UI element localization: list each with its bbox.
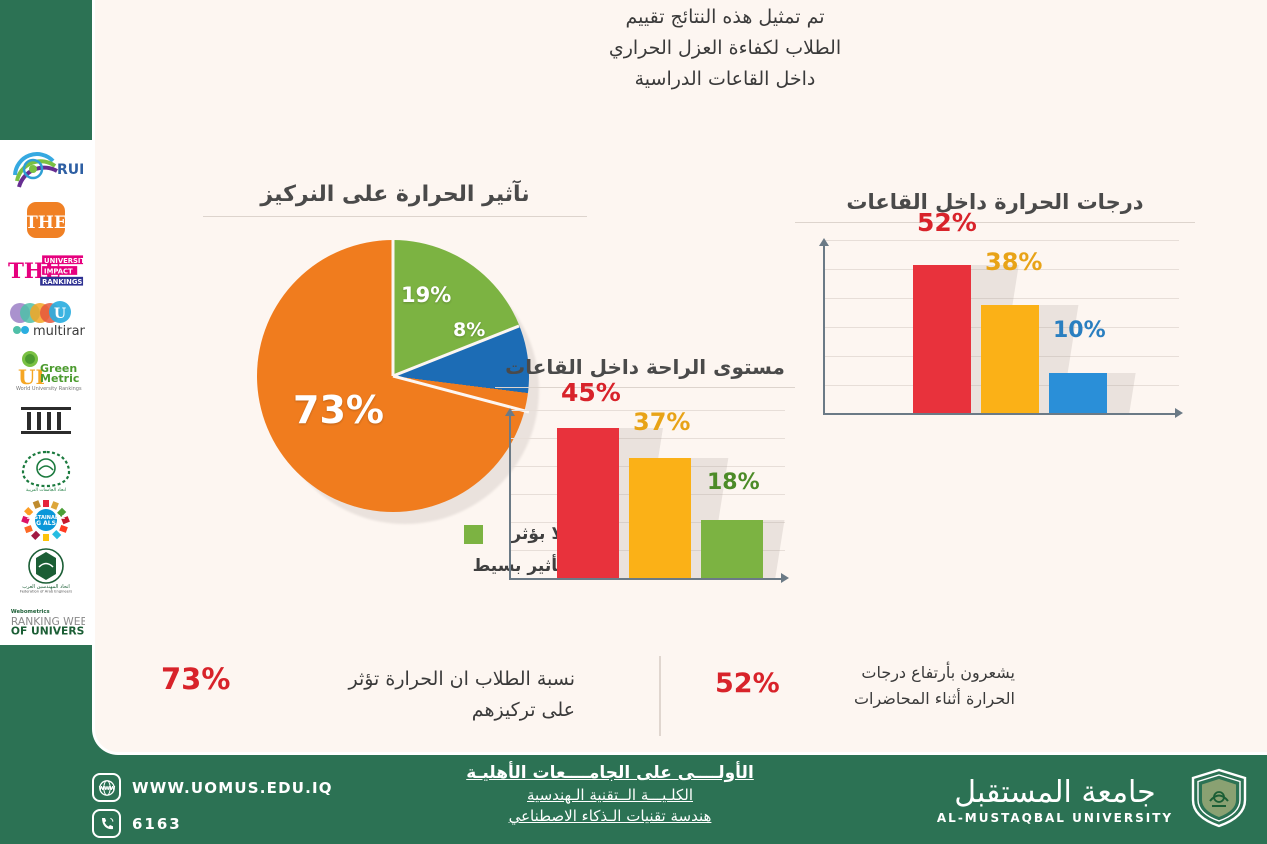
svg-text:UNIVERSITY: UNIVERSITY xyxy=(44,257,85,265)
svg-text:WWW: WWW xyxy=(98,786,115,792)
phone-text: 6163 xyxy=(132,815,182,833)
svg-text:G ALS: G ALS xyxy=(36,520,56,527)
footer-line-3: هندسة تقنيات الـذكاء الاصطناعي xyxy=(380,807,840,825)
pie-slice-label-green: 19% xyxy=(401,283,451,307)
comfort-bar-value-3: 18% xyxy=(707,470,760,495)
sdg-wheel-logo: SUSTAINABLE G ALS xyxy=(7,496,85,544)
brand-name-english: AL-MUSTAQBAL UNIVERSITY xyxy=(930,811,1180,825)
temperature-bar-1 xyxy=(913,265,971,415)
temperature-bar-value-1: 52% xyxy=(917,208,977,237)
legend-swatch-green xyxy=(464,525,483,544)
stat-value-52: 52% xyxy=(715,668,780,699)
ui-greenmetric-logo: UI Green Metric World University Ranking… xyxy=(7,346,85,394)
stat-text-52-line-1: يشعرون بأرتفاع درجات xyxy=(795,660,1015,686)
university-brand: جامعة المستقبل AL-MUSTAQBAL UNIVERSITY xyxy=(930,767,1250,833)
temperature-bar-chart-panel: درجات الحرارة داخل القاعات 52% 38% 10% xyxy=(795,190,1195,450)
temperature-bar-2 xyxy=(981,305,1039,415)
federation-arab-engineers-logo: اتحاد المهندسين العرب Federation of Arab… xyxy=(7,546,85,594)
svg-text:اتحاد الجامعات العربية: اتحاد الجامعات العربية xyxy=(26,488,66,492)
svg-text:RANKINGS: RANKINGS xyxy=(42,278,82,286)
accreditation-logo-rail: RUR THE THE UNIVERSITY IMPACT RANKINGS xyxy=(0,140,92,645)
svg-text:RUR: RUR xyxy=(57,162,83,178)
website-text: WWW.UOMUS.EDU.IQ xyxy=(132,779,333,797)
footer-center-text: الأولــــى على الجامــــعات الأهليـة الك… xyxy=(380,763,840,825)
svg-text:OF UNIVERSITIES: OF UNIVERSITIES xyxy=(11,625,85,638)
svg-text:THE: THE xyxy=(25,213,67,233)
svg-text:Metric: Metric xyxy=(40,372,79,385)
temperature-bar-value-2: 38% xyxy=(985,248,1042,276)
slide-header-text: تم تمثيل هذه النتائج تقييم الطلاب لكفاءة… xyxy=(525,2,925,95)
temperature-x-axis-arrow xyxy=(1175,408,1183,418)
stats-divider xyxy=(659,656,661,736)
brand-name-arabic: جامعة المستقبل xyxy=(930,776,1180,810)
rur-logo: RUR xyxy=(7,146,85,194)
temperature-x-axis xyxy=(823,413,1175,415)
comfort-plot-area: 45% 37% 18% xyxy=(509,410,785,580)
temperature-bar-value-3: 10% xyxy=(1053,318,1106,343)
website-row[interactable]: WWW WWW.UOMUS.EDU.IQ xyxy=(92,773,333,802)
globe-www-icon: WWW xyxy=(92,773,121,802)
temperature-plot-area: 52% 38% 10% xyxy=(823,240,1179,415)
temperature-y-axis-arrow xyxy=(819,238,829,246)
comfort-chart-title: مستوى الراحة داخل القاعات xyxy=(495,355,795,379)
svg-text:U: U xyxy=(54,306,66,322)
footer-line-1: الأولــــى على الجامــــعات الأهليـة xyxy=(380,763,840,783)
temperature-title-divider xyxy=(795,222,1195,223)
svg-text:World University Rankings: World University Rankings xyxy=(16,386,82,392)
comfort-x-axis xyxy=(509,578,781,580)
webometrics-logo: Webometrics RANKING WEB OF UNIVERSITIES xyxy=(7,596,85,644)
pie-slice-label-orange: 73% xyxy=(293,388,384,432)
header-line-2: الطلاب لكفاءة العزل الحراري xyxy=(525,33,925,64)
footer-line-2: الكلـيـــة الــتقنية الـهندسية xyxy=(380,786,840,804)
pie-slice-label-blue: 8% xyxy=(453,319,485,341)
pie-slice-separators xyxy=(257,240,529,512)
arab-universities-logo: اتحاد الجامعات العربية xyxy=(7,446,85,494)
pie-title-divider xyxy=(203,216,587,217)
the-impact-rankings-logo: THE UNIVERSITY IMPACT RANKINGS xyxy=(7,246,85,294)
temperature-chart-title: درجات الحرارة داخل القاعات xyxy=(795,190,1195,214)
u-multirank-logo: U multirank xyxy=(7,296,85,344)
header-line-1: تم تمثيل هذه النتائج تقييم xyxy=(525,2,925,33)
the-logo: THE xyxy=(7,196,85,244)
svg-text:multirank: multirank xyxy=(33,324,85,339)
stat-text-52-line-2: الحرارة أثناء المحاضرات xyxy=(795,686,1015,712)
brand-text-block: جامعة المستقبل AL-MUSTAQBAL UNIVERSITY xyxy=(930,776,1180,825)
columns-logo xyxy=(7,396,85,444)
page-footer: WWW WWW.UOMUS.EDU.IQ 6163 الأولــــى على… xyxy=(0,755,1267,844)
left-green-rail: RUR THE THE UNIVERSITY IMPACT RANKINGS xyxy=(0,0,92,844)
svg-text:Federation of Arab Engineers: Federation of Arab Engineers xyxy=(20,590,72,594)
phone-icon xyxy=(92,809,121,838)
comfort-title-divider xyxy=(495,387,795,388)
header-line-3: داخل القاعات الدراسية xyxy=(525,64,925,95)
slide-content-area: تم تمثيل هذه النتائج تقييم الطلاب لكفاءة… xyxy=(92,0,1267,755)
phone-row[interactable]: 6163 xyxy=(92,809,182,838)
stat-text-73: نسبة الطلاب ان الحرارة تؤثر على تركيزهم xyxy=(245,664,575,726)
svg-text:IMPACT: IMPACT xyxy=(44,268,73,276)
comfort-x-axis-arrow xyxy=(781,573,789,583)
stat-text-73-line-1: نسبة الطلاب ان الحرارة تؤثر xyxy=(245,664,575,695)
temperature-y-axis xyxy=(823,246,825,415)
pie-chart-title: نآثير الحرارة على النركيز xyxy=(195,182,595,207)
stat-text-52: يشعرون بأرتفاع درجات الحرارة أثناء المحا… xyxy=(795,660,1015,712)
summary-stats: 73% نسبة الطلاب ان الحرارة تؤثر على تركي… xyxy=(95,648,1267,748)
comfort-bar-value-1: 45% xyxy=(561,378,621,407)
comfort-bar-value-2: 37% xyxy=(633,408,690,436)
stat-text-73-line-2: على تركيزهم xyxy=(245,695,575,726)
comfort-bar-3 xyxy=(701,520,763,580)
comfort-y-axis-arrow xyxy=(505,408,515,416)
temperature-bar-3 xyxy=(1049,373,1107,415)
university-shield-logo xyxy=(1188,767,1250,833)
stat-value-73: 73% xyxy=(161,662,230,696)
comfort-y-axis xyxy=(509,416,511,580)
comfort-bar-1 xyxy=(557,428,619,580)
comfort-bar-2 xyxy=(629,458,691,580)
comfort-bar-chart-panel: مستوى الراحة داخل القاعات 45% 37% 18% xyxy=(495,355,795,610)
